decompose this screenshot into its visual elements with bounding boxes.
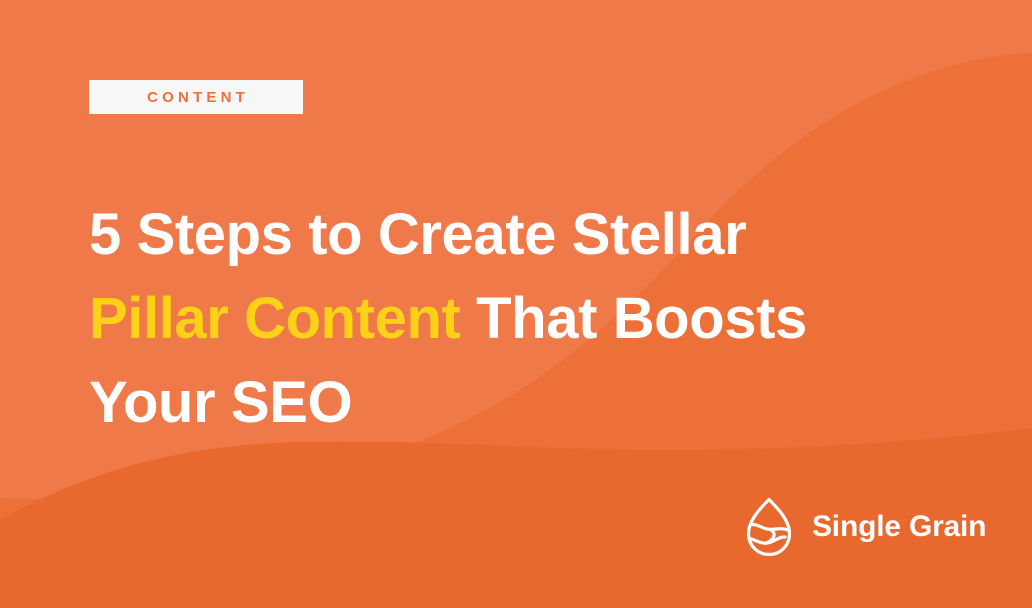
category-badge[interactable]: CONTENT <box>89 80 303 114</box>
blog-promo-card: CONTENT 5 Steps to Create Stellar Pillar… <box>0 0 1032 608</box>
card-content: CONTENT 5 Steps to Create Stellar Pillar… <box>0 0 1032 608</box>
brand-logo[interactable]: Single Grain <box>744 496 986 558</box>
headline-line-3-text: Your SEO <box>89 370 352 435</box>
headline-line-3: Your SEO <box>89 361 939 445</box>
category-badge-label: CONTENT <box>143 90 249 105</box>
headline-line-2-text: That Boosts <box>460 286 806 351</box>
headline-accent-text: Pillar Content <box>89 286 460 351</box>
headline-line-1-text: 5 Steps to Create Stellar <box>89 202 746 267</box>
headline-line-2: Pillar Content That Boosts <box>89 277 939 361</box>
brand-wordmark: Single Grain <box>812 512 986 542</box>
headline-line-1: 5 Steps to Create Stellar <box>89 193 939 277</box>
grain-seed-icon <box>744 496 794 558</box>
page-title: 5 Steps to Create Stellar Pillar Content… <box>89 193 939 445</box>
